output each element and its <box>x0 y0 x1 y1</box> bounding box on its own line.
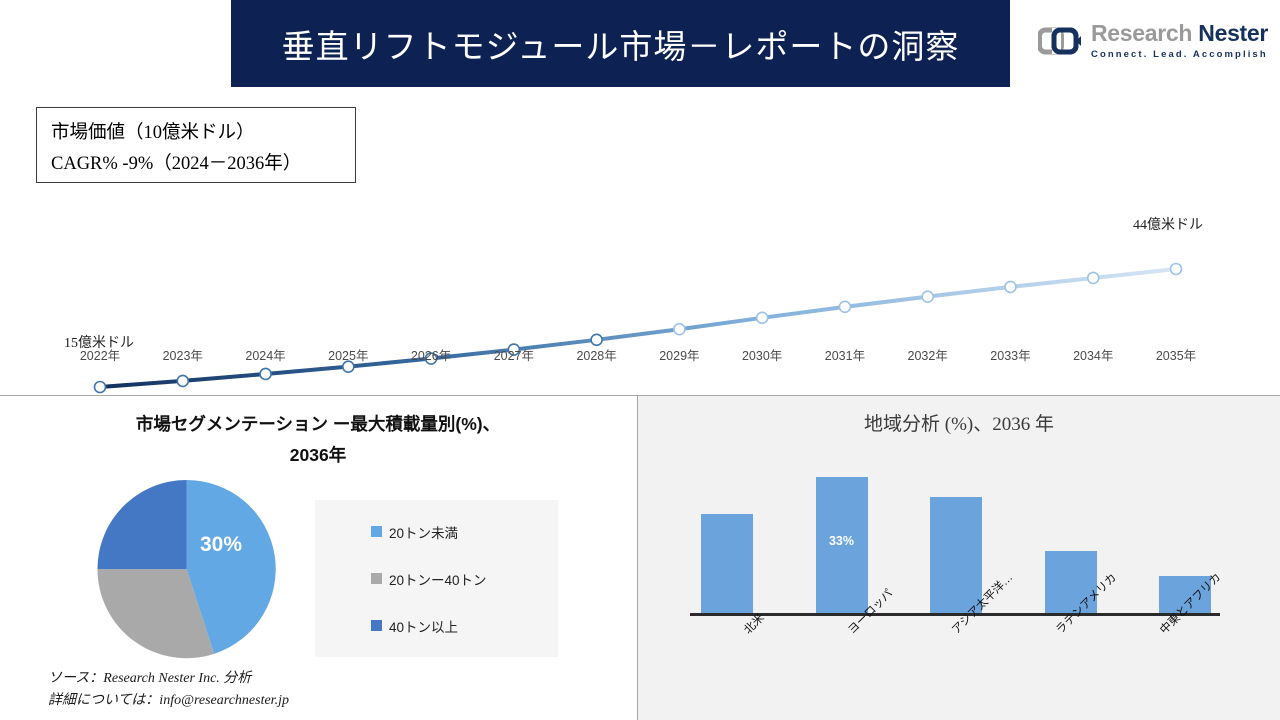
pie-legend-item[interactable]: 40トン以上 <box>371 616 558 636</box>
interlocking-links-logo-icon <box>1038 26 1082 56</box>
pie-title-sub: 2036年 <box>290 445 346 465</box>
line-data-point <box>177 375 188 386</box>
pie-legend-label: 20トンー40トン <box>389 569 487 589</box>
header-band: 垂直リフトモジュール市場－レポートの洞察 <box>231 0 1010 87</box>
line-data-point <box>260 368 271 379</box>
bar-chart-bars: 33% <box>696 456 1216 613</box>
line-data-point <box>95 382 106 393</box>
line-x-tick: 2028年 <box>552 345 642 364</box>
line-x-tick: 2026年 <box>386 345 476 364</box>
pie-chart-title: 市場セグメンテーション ー最大積載量別(%)、 2036年 <box>18 409 618 470</box>
pie-slice <box>97 480 186 569</box>
logo-name-first: Research <box>1091 20 1192 46</box>
line-data-point <box>1171 264 1182 275</box>
line-data-point <box>1088 272 1099 283</box>
pie-legend-label: 40トン以上 <box>389 616 458 636</box>
line-x-tick: 2034年 <box>1048 345 1138 364</box>
bar-column[interactable]: 33% <box>811 456 873 613</box>
legend-swatch-icon <box>371 573 382 584</box>
source-footnote: ソース：Research Nester Inc. 分析 詳細については：info… <box>48 668 289 711</box>
logo-name-second: Nester <box>1198 20 1268 46</box>
pie-legend-item[interactable]: 20トン未満 <box>371 522 558 542</box>
line-x-tick: 2032年 <box>883 345 973 364</box>
pie-chart <box>92 478 287 664</box>
bar-chart-x-labels: 北米ヨーロッパアジア太平洋…ラテンアメリカ中東とアフリカ <box>696 618 1216 708</box>
legend-swatch-icon <box>371 526 382 537</box>
line-data-point <box>839 301 850 312</box>
line-x-tick: 2035年 <box>1131 345 1221 364</box>
line-x-tick: 2022年 <box>55 345 145 364</box>
pie-legend-label: 20トン未満 <box>389 522 458 542</box>
market-value-line-chart: 市場価値（10億米ドル） CAGR% -9%（2024－2036年） 15億米ド… <box>0 87 1280 395</box>
contact-line: 詳細については：info@researchnester.jp <box>48 690 289 712</box>
brand-logo: Research Nester Connect. Lead. Accomplis… <box>1038 22 1268 60</box>
line-data-point <box>591 334 602 345</box>
line-x-tick: 2023年 <box>138 345 228 364</box>
bar-chart-title: 地域分析 (%)、2036 年 <box>638 409 1280 436</box>
bar-column[interactable] <box>696 456 758 613</box>
legend-swatch-icon <box>371 620 382 631</box>
bar[interactable]: 33% <box>816 477 868 613</box>
source-line: ソース：Research Nester Inc. 分析 <box>48 668 289 690</box>
line-x-tick: 2033年 <box>965 345 1055 364</box>
logo-tagline: Connect. Lead. Accomplish <box>1091 50 1268 60</box>
pie-title-main: 市場セグメンテーション ー最大積載量別(%)、 <box>136 414 500 434</box>
bar-chart-axis-line <box>690 613 1220 616</box>
page-title: 垂直リフトモジュール市場－レポートの洞察 <box>282 20 960 68</box>
infographic-page: 垂直リフトモジュール市場－レポートの洞察 Research Nester Con… <box>0 0 1280 720</box>
line-x-tick: 2029年 <box>634 345 724 364</box>
bar-data-label: 33% <box>816 534 868 548</box>
line-data-point <box>922 291 933 302</box>
logo-name: Research Nester <box>1091 22 1268 45</box>
regional-panel: 地域分析 (%)、2036 年 33% 北米ヨーロッパアジア太平洋…ラテンアメリ… <box>638 396 1280 720</box>
line-x-tick: 2030年 <box>717 345 807 364</box>
line-data-point <box>674 324 685 335</box>
line-x-tick: 2027年 <box>469 345 559 364</box>
bar-column[interactable] <box>925 456 987 613</box>
line-x-tick: 2025年 <box>303 345 393 364</box>
pie-data-label: 30% <box>200 533 242 557</box>
logo-text: Research Nester Connect. Lead. Accomplis… <box>1091 22 1268 60</box>
line-data-point <box>757 312 768 323</box>
line-x-tick: 2024年 <box>221 345 311 364</box>
bar[interactable] <box>701 514 753 613</box>
pie-legend-item[interactable]: 20トンー40トン <box>371 569 558 589</box>
line-data-point <box>1005 281 1016 292</box>
line-x-tick: 2031年 <box>800 345 890 364</box>
bar[interactable] <box>930 497 982 613</box>
pie-chart-legend: 20トン未満20トンー40トン40トン以上 <box>315 500 558 657</box>
pie-chart-svg <box>92 478 287 664</box>
